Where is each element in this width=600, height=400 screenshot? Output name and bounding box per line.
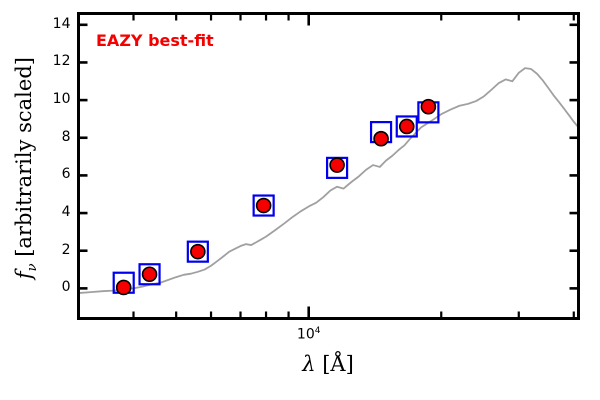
y-tick-label: 4 xyxy=(41,204,71,220)
figure-canvas: fν [arbitrarily scaled] λ [Å] EAZY best-… xyxy=(0,0,600,400)
x-axis-label-unit: [Å] xyxy=(322,352,354,376)
y-tick-label: 14 xyxy=(41,16,71,32)
y-axis-label-rest: [arbitrarily scaled] xyxy=(12,57,36,263)
y-axis-label-symbol: f xyxy=(12,271,36,279)
x-tick-label-exponent: 4 xyxy=(315,326,321,336)
observed-photometry-marker xyxy=(330,158,344,172)
y-tick-label: 2 xyxy=(41,242,71,258)
y-tick-label: 12 xyxy=(41,53,71,69)
annotation-eazy-best-fit: EAZY best-fit xyxy=(96,31,214,50)
observed-photometry-marker xyxy=(257,199,271,213)
observed-photometry-marker xyxy=(421,100,435,114)
y-tick-label: 8 xyxy=(41,129,71,145)
x-tick-label: 104 xyxy=(284,326,334,343)
y-axis-label-subscript: ν xyxy=(25,263,40,271)
y-tick-label: 10 xyxy=(41,91,71,107)
x-tick-label-mantissa: 10 xyxy=(297,326,315,342)
observed-photometry-marker xyxy=(374,132,388,146)
observed-photometry-marker xyxy=(400,119,414,133)
y-tick-label: 6 xyxy=(41,166,71,182)
x-axis-label-symbol: λ xyxy=(302,352,315,376)
y-tick-label: 0 xyxy=(41,279,71,295)
spectrum-line xyxy=(79,68,579,293)
observed-photometry-marker xyxy=(191,245,205,259)
y-axis-label: fν [arbitrarily scaled] xyxy=(12,8,40,328)
observed-photometry-marker xyxy=(143,267,157,281)
x-axis-label: λ [Å] xyxy=(78,352,578,376)
observed-photometry-marker xyxy=(117,280,131,294)
